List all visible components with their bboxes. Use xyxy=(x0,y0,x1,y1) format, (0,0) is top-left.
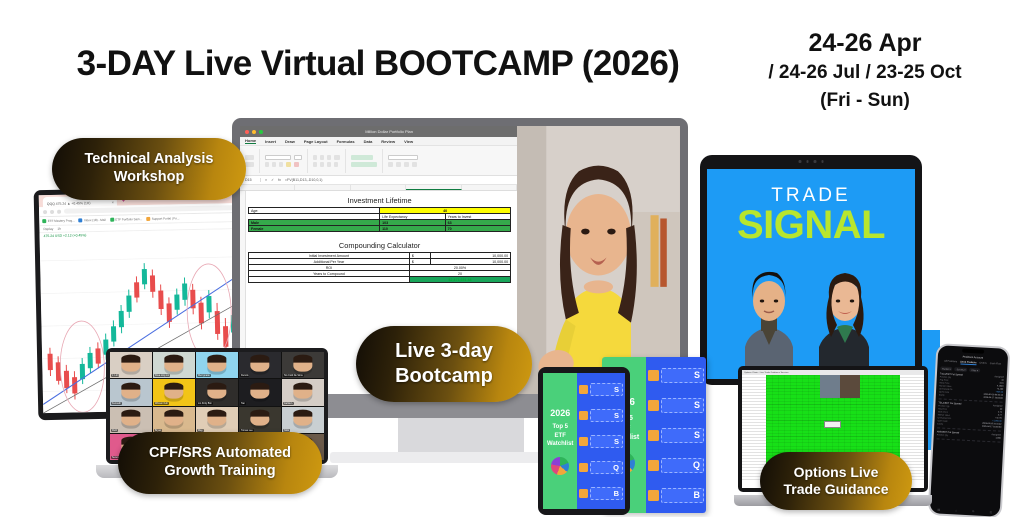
participant-avatar xyxy=(207,357,226,372)
zoom-participant-tile[interactable]: Winson Koh xyxy=(153,379,195,405)
video-thumb xyxy=(820,375,840,398)
zoom-participant-tile[interactable]: Tomas Lee xyxy=(239,407,281,433)
participant-hair xyxy=(293,409,312,417)
participant-avatar xyxy=(207,411,226,426)
etf-title-2: ETF xyxy=(555,432,566,440)
ribbon-tab-review[interactable]: Review xyxy=(381,139,395,144)
chip-sort-by[interactable]: Sort By ▾ xyxy=(955,367,968,372)
detail-value: 4.1090 xyxy=(997,385,1003,387)
female-label: Female xyxy=(249,226,380,232)
reload-icon[interactable] xyxy=(57,209,61,213)
promo-banner: 3-DAY Live Virtual BOOTCAMP (2026) 24-26… xyxy=(0,0,1024,517)
participant-hair xyxy=(250,355,269,363)
participant-avatar xyxy=(164,384,183,399)
participant-hair xyxy=(250,409,269,417)
badge-line1: Options Live xyxy=(794,464,879,481)
list-item[interactable]: S xyxy=(648,368,704,383)
ribbon-tab-draw[interactable]: Draw xyxy=(285,139,295,144)
bookmark-item[interactable]: Inbox (18) - Mail xyxy=(79,218,106,223)
highlighted-cell[interactable] xyxy=(824,421,842,428)
participant-name: SG Cold De Sims xyxy=(283,374,304,377)
etf-title-3: Watchlist xyxy=(547,440,573,448)
table-row: $2,873,651.48 xyxy=(249,277,511,283)
ribbon-tab-home[interactable]: Home xyxy=(245,138,256,144)
participant-avatar xyxy=(293,384,312,399)
detail-key: Expiry xyxy=(937,423,943,425)
ribbon-tab-page-layout[interactable]: Page Layout xyxy=(304,139,328,144)
minimize-icon[interactable] xyxy=(252,130,256,134)
section-title-investment-lifetime: Investment Lifetime xyxy=(248,196,511,205)
phone-body: Positions Account All Positions Stock Po… xyxy=(928,343,1011,517)
tablet-screen: TRADE SIGNAL xyxy=(707,169,915,379)
participant-hair xyxy=(293,382,312,390)
zoom-participant-tile[interactable]: Tan xyxy=(239,379,281,405)
participant-name: Mei Ignatio xyxy=(197,374,211,377)
badge-line2: Bootcamp xyxy=(395,364,493,389)
female-life: 110 xyxy=(380,226,446,232)
ribbon-group-clipboard xyxy=(245,149,260,173)
participant-avatar xyxy=(250,384,269,399)
excel-ribbon xyxy=(240,146,517,176)
ribbon-tab-insert[interactable]: Insert xyxy=(265,139,276,144)
ribbon-group-wrap xyxy=(351,149,383,173)
browser-tab-title: QQQ 475.24 ▲ +0.45% (1H) xyxy=(47,201,91,206)
badge-live-bootcamp: Live 3-day Bootcamp xyxy=(356,326,532,402)
date-secondary: / 24-26 Jul / 23-25 Oct xyxy=(720,59,1010,86)
participant-name: Dennis xyxy=(240,374,249,377)
url-input[interactable] xyxy=(64,205,245,214)
confirm-icon[interactable]: ✓ xyxy=(271,178,274,182)
phone-filter-chips: Market ▾ Sort By ▾ Filter ▾ xyxy=(940,366,1004,373)
participant-hair xyxy=(250,382,269,390)
date-days: (Fri - Sun) xyxy=(720,86,1010,116)
position-card[interactable]: TSLA/BBT Put SpreadAssignedPosition Qty1… xyxy=(939,373,1004,402)
camera-dots xyxy=(799,160,824,163)
etf-card-right-panel: S S S Q B xyxy=(646,357,706,513)
chip-filter[interactable]: Filter ▾ xyxy=(969,368,980,373)
nav-trade-icon[interactable]: ⟳ xyxy=(972,509,975,513)
video-thumb xyxy=(840,375,860,398)
ribbon-group-alignment xyxy=(313,149,346,173)
participant-avatar xyxy=(121,384,140,399)
list-item[interactable]: S xyxy=(648,428,704,443)
phone-screen: Positions Account All Positions Stock Po… xyxy=(930,345,1009,516)
ribbon-tab-view[interactable]: View xyxy=(404,139,413,144)
zoom-participant-tile[interactable]: Jackie L xyxy=(282,379,324,405)
formula-input[interactable]: =FV(B11,D13,-D10,0,1) xyxy=(285,178,323,182)
name-box[interactable]: D15 xyxy=(245,178,261,182)
detail-value: 10 xyxy=(1001,380,1003,382)
ribbon-group-font xyxy=(265,149,308,173)
list-item[interactable]: S xyxy=(648,398,704,413)
zoom-participant-tile[interactable]: Lin Kinly Bim xyxy=(196,379,238,405)
participant-avatar xyxy=(293,357,312,372)
date-block: 24-26 Apr / 24-26 Jul / 23-25 Oct (Fri -… xyxy=(720,28,1010,116)
replay-button[interactable]: Replay xyxy=(43,227,53,231)
excel-ribbon-tabs: Home Insert Draw Page Layout Formulas Da… xyxy=(240,137,517,146)
participant-name: Tan xyxy=(240,402,246,405)
zoom-participant-tile[interactable]: J. Lim xyxy=(110,352,152,378)
zoom-participant-tile[interactable]: Ruth xyxy=(110,407,152,433)
tab-orders[interactable]: Orders xyxy=(979,361,987,365)
participant-avatar xyxy=(250,411,269,426)
etf-card-left-panel: 2026 Top 5 ETF Watchlist xyxy=(543,373,577,509)
badge-line1: CPF/SRS Automated xyxy=(149,445,291,463)
detail-value: 40 xyxy=(1000,409,1002,411)
participant-avatar xyxy=(164,411,183,426)
monitor-stand xyxy=(398,416,524,456)
trade-signal-line2: SIGNAL xyxy=(707,207,915,243)
tablet-screen: 2026 Top 5 ETF Watchlist S S S Q B xyxy=(543,373,625,509)
participant-hair xyxy=(164,355,183,363)
status-badge: Assigned xyxy=(994,376,1004,378)
close-icon[interactable]: × xyxy=(111,200,113,205)
participant-hair xyxy=(293,355,312,363)
participant-name: Drea Ling Lin xyxy=(154,374,170,377)
detail-value: 2025-04-17 16:00:00 xyxy=(982,426,1001,429)
investment-lifetime-table: Age: 40 Life Expectancy Years to Invest … xyxy=(248,207,511,232)
detail-value: +4,109 xyxy=(997,388,1004,390)
status-badge: Assigned xyxy=(991,434,1001,436)
maximize-icon[interactable] xyxy=(259,130,263,134)
badge-line1: Live 3-day xyxy=(395,339,493,364)
tablet-body: TRADE SIGNAL xyxy=(700,155,922,385)
phone-bottom-nav: ▤ ⌂ ⟳ ☰ xyxy=(930,507,1000,515)
zoom-participant-tile[interactable]: Kenneth xyxy=(110,379,152,405)
participant-hair xyxy=(207,409,226,417)
participant-hair xyxy=(207,382,226,390)
list-item[interactable]: Q xyxy=(648,458,704,473)
page-title: 3-DAY Live Virtual BOOTCAMP (2026) xyxy=(48,44,708,84)
participant-name: Winson Koh xyxy=(154,402,169,405)
chip-market[interactable]: Market ▾ xyxy=(940,366,953,371)
list-item[interactable]: S xyxy=(579,409,623,422)
status-badge: Assigned xyxy=(993,405,1003,407)
participant-hair xyxy=(121,355,140,363)
badge-cpf-srs: CPF/SRS Automated Growth Training xyxy=(118,432,322,494)
zoom-participant-tile[interactable]: May xyxy=(196,407,238,433)
excel-file-name: Million Dollar Portfolio Plan xyxy=(365,129,413,134)
detail-key: Position Qty xyxy=(937,434,948,437)
compounding-calculator-table: Initial Investment Amount $ 10,000.00 Ad… xyxy=(248,252,511,283)
badge-technical-analysis: Technical Analysis Workshop xyxy=(52,138,246,200)
position-card[interactable]: TSLA/BBT Put SpreadAssignedPosition Qty4… xyxy=(937,402,1002,431)
phone-tab-bar: All Positions Stock Positions Orders Cas… xyxy=(940,359,1004,366)
participant-hair xyxy=(164,382,183,390)
detail-value: 3.15 xyxy=(999,383,1003,385)
presenter-illustration xyxy=(517,126,680,394)
list-item[interactable]: B xyxy=(648,488,704,503)
bookmark-item[interactable]: ETF Mastery Prog... xyxy=(42,218,74,223)
zoom-participant-tile[interactable]: SG Cold De Sims xyxy=(282,352,324,378)
detail-key: Expiry xyxy=(939,394,945,396)
tablet-trade-signal: TRADE SIGNAL xyxy=(700,155,922,385)
participant-name: Lin Kinly Bim xyxy=(197,402,213,405)
list-item[interactable]: S xyxy=(579,435,623,448)
bookmark-item[interactable]: ETF Portfolio Sam... xyxy=(110,217,143,222)
table-row: Female 110 70 xyxy=(249,226,511,232)
detail-value: 1,000 xyxy=(995,437,1000,439)
list-item[interactable]: S xyxy=(579,383,623,396)
date-primary: 24-26 Apr xyxy=(720,28,1010,59)
participant-hair xyxy=(207,355,226,363)
ribbon-tab-formulas[interactable]: Formulas xyxy=(337,139,355,144)
participant-avatar xyxy=(207,384,226,399)
participant-name: Kenneth xyxy=(111,402,122,405)
timeframe-button[interactable]: 1h xyxy=(57,227,61,231)
female-invest: 70 xyxy=(445,226,511,232)
zoom-participant-tile[interactable]: Dennis xyxy=(239,352,281,378)
function-icon[interactable]: fx xyxy=(278,178,281,182)
participant-name: J. Lim xyxy=(111,374,119,377)
phone-trading-app: Positions Account All Positions Stock Po… xyxy=(928,343,1011,517)
excel-formula-bar[interactable]: D15 × ✓ fx =FV(B11,D13,-D10,0,1) xyxy=(240,176,517,185)
close-icon[interactable] xyxy=(245,130,249,134)
cancel-icon[interactable]: × xyxy=(265,178,267,182)
nav-menu-icon[interactable]: ☰ xyxy=(989,510,992,514)
list-item[interactable]: Q xyxy=(579,461,623,474)
etf-year: 2026 xyxy=(550,407,570,419)
participant-hair xyxy=(164,409,183,417)
section-title-compounding-calculator: Compounding Calculator xyxy=(248,241,511,250)
tab-stock-positions[interactable]: Stock Positions xyxy=(960,360,977,365)
detail-value: +3,770 xyxy=(995,417,1002,419)
detail-value: +959.00 xyxy=(995,391,1003,393)
etf-title-1: Top 5 xyxy=(552,423,568,431)
ribbon-tab-data[interactable]: Data xyxy=(364,139,373,144)
participant-avatar xyxy=(121,357,140,372)
zoom-participant-tile[interactable]: Bryan xyxy=(153,407,195,433)
zoom-participant-tile[interactable]: Mei Ignatio xyxy=(196,352,238,378)
detail-value: 3.77 xyxy=(998,414,1002,416)
participant-name: Ruth xyxy=(111,429,118,432)
tablet-etf-watchlist: 2026 Top 5 ETF Watchlist S S S Q B xyxy=(538,367,630,515)
forward-icon[interactable] xyxy=(50,209,54,213)
zoom-participant-tile[interactable]: Nikki xyxy=(282,407,324,433)
participant-name: Jackie L xyxy=(283,402,294,405)
badge-options-live: Options Live Trade Guidance xyxy=(760,452,912,510)
badge-line2: Growth Training xyxy=(164,463,275,481)
detail-value: 2025-04-17 16:00:00 xyxy=(983,397,1002,400)
nav-markets-icon[interactable]: ▤ xyxy=(937,507,940,511)
bookmark-item[interactable]: Support Portal | Fo... xyxy=(146,216,179,221)
video-thumbnails xyxy=(820,375,860,398)
participant-avatar xyxy=(293,411,312,426)
detail-value: 2.71 xyxy=(998,411,1002,413)
ribbon-group-number xyxy=(388,149,423,173)
participant-avatar xyxy=(250,357,269,372)
presenters-illustration xyxy=(707,261,915,379)
position-card[interactable]: AMD/BBT Put SpreadAssignedPosition Qty1,… xyxy=(937,431,1001,442)
phone-position-list: TSLA/BBT Put SpreadAssignedPosition Qty1… xyxy=(937,373,1004,442)
back-icon[interactable] xyxy=(43,210,47,214)
badge-line2: Workshop xyxy=(114,169,185,187)
nav-home-icon[interactable]: ⌂ xyxy=(955,508,957,512)
participant-hair xyxy=(121,382,140,390)
list-item[interactable]: B xyxy=(579,487,623,500)
tab-all-positions[interactable]: All Positions xyxy=(944,360,957,365)
pie-chart-icon xyxy=(551,457,569,475)
presenter-video xyxy=(517,126,680,394)
participant-avatar xyxy=(164,357,183,372)
badge-line1: Technical Analysis xyxy=(85,151,214,169)
excel-title-bar: Million Dollar Portfolio Plan xyxy=(240,126,517,137)
zoom-participant-tile[interactable]: Drea Ling Lin xyxy=(153,352,195,378)
etf-card-right-panel: S S S Q B xyxy=(577,373,625,509)
badge-line2: Trade Guidance xyxy=(783,481,888,498)
participant-avatar xyxy=(121,411,140,426)
participant-hair xyxy=(121,409,140,417)
tab-cash-flow[interactable]: Cash Flow xyxy=(990,362,1001,367)
calc-result: $2,873,651.48 xyxy=(409,277,510,283)
